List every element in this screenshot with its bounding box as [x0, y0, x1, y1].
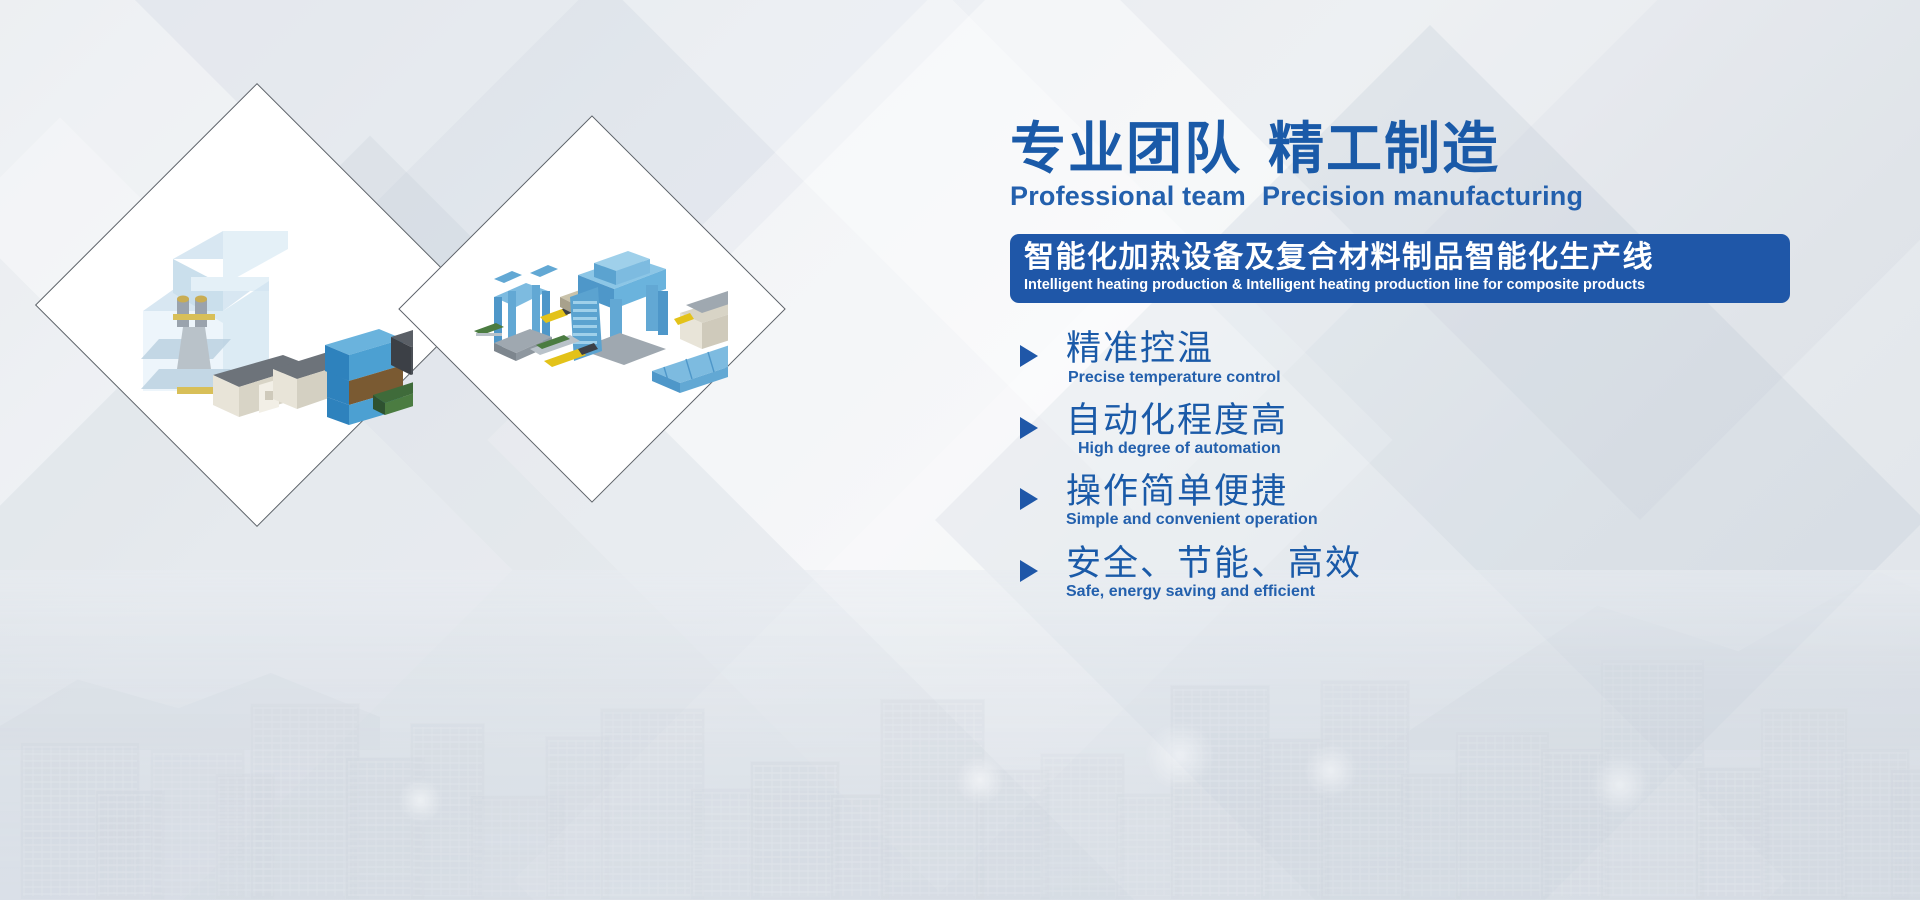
feature-item: 操作简单便捷 Simple and convenient operation [1010, 472, 1890, 529]
triangle-bullet-icon [1020, 488, 1038, 510]
ribbon-title-chinese: 智能化加热设备及复合材料制品智能化生产线 [1024, 241, 1776, 276]
feature-item: 安全、节能、高效 Safe, energy saving and efficie… [1010, 544, 1890, 601]
feature-item: 精准控温 Precise temperature control [1010, 329, 1890, 386]
product-image-diamond-2 [398, 115, 785, 502]
product-ribbon: 智能化加热设备及复合材料制品智能化生产线 Intelligent heating… [1010, 234, 1790, 304]
feature-chinese: 自动化程度高 [1066, 401, 1890, 440]
feature-english: Safe, energy saving and efficient [1066, 582, 1890, 601]
diamond-1-content [101, 149, 413, 461]
triangle-bullet-icon [1020, 345, 1038, 367]
promotional-banner: 专业团队精工制造 Professional teamPrecision manu… [0, 0, 1920, 900]
feature-english: Precise temperature control [1068, 368, 1890, 387]
diamond-2-content [456, 173, 728, 445]
feature-chinese: 安全、节能、高效 [1066, 544, 1890, 583]
feature-english: High degree of automation [1078, 439, 1890, 458]
feature-item: 自动化程度高 High degree of automation [1010, 401, 1890, 458]
heating-equipment-render [101, 219, 413, 449]
ribbon-title-english: Intelligent heating production & Intelli… [1024, 276, 1776, 294]
headline-en-left: Professional team [1010, 181, 1246, 211]
feature-english: Simple and convenient operation [1066, 510, 1890, 529]
haze-overlay [0, 570, 1920, 900]
triangle-bullet-icon [1020, 560, 1038, 582]
feature-chinese: 精准控温 [1066, 329, 1890, 368]
triangle-bullet-icon [1020, 417, 1038, 439]
feature-list: 精准控温 Precise temperature control 自动化程度高 … [1010, 329, 1890, 601]
headline-chinese: 专业团队精工制造 [1010, 120, 1890, 179]
headline-cn-left: 专业团队 [1010, 117, 1242, 180]
headline-cn-right: 精工制造 [1268, 117, 1500, 180]
text-column: 专业团队精工制造 Professional teamPrecision manu… [1010, 120, 1890, 615]
city-skyline-backdrop [0, 570, 1920, 900]
headline-en-right: Precision manufacturing [1262, 181, 1583, 211]
headline-english: Professional teamPrecision manufacturing [1010, 181, 1890, 212]
feature-chinese: 操作简单便捷 [1066, 472, 1890, 511]
composite-press-line-render [474, 239, 728, 429]
